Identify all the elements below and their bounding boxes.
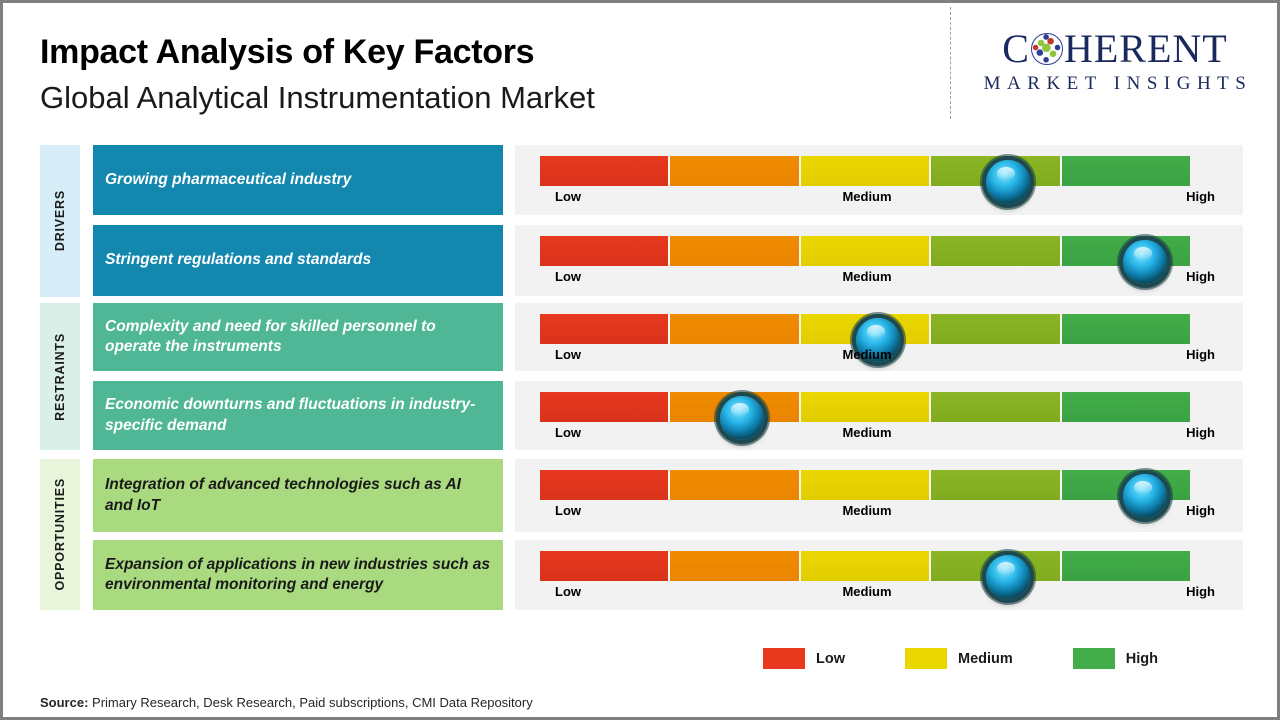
gauge-segment-medium <box>799 551 929 581</box>
gauge-segment-medium <box>799 392 929 422</box>
gauge-segment-medium <box>799 236 929 266</box>
gauge-bar[interactable] <box>540 314 1190 344</box>
globe-icon <box>1031 33 1063 65</box>
factor-text: Complexity and need for skilled personne… <box>105 317 491 358</box>
gauge-segment-low <box>540 314 668 344</box>
gauge-row-3: Low Medium High <box>515 303 1243 371</box>
gauge-segment-low-mid <box>668 470 798 500</box>
gauge-segment-mid-high <box>929 236 1059 266</box>
factor-text: Stringent regulations and standards <box>105 250 371 270</box>
gauge-segment-mid-high <box>929 392 1059 422</box>
gauge-bar[interactable] <box>540 551 1190 581</box>
gauge-row-4: Low Medium High <box>515 381 1243 450</box>
gauge-segment-low <box>540 470 668 500</box>
gauge-scale-labels: Low Medium High <box>540 189 1220 211</box>
gauge-segment-mid-high <box>929 314 1059 344</box>
logo-letter-c: C <box>1002 29 1030 69</box>
scale-label-low: Low <box>555 189 581 204</box>
gauge-segment-low-mid <box>668 156 798 186</box>
scale-label-medium: Medium <box>842 269 891 284</box>
gauge-segment-high <box>1060 551 1190 581</box>
scale-label-low: Low <box>555 503 581 518</box>
factor-box-6[interactable]: Expansion of applications in new industr… <box>93 540 503 610</box>
factor-text: Integration of advanced technologies suc… <box>105 475 491 516</box>
legend-swatch-low <box>763 648 805 669</box>
gauge-segment-high <box>1060 156 1190 186</box>
legend-swatch-high <box>1073 648 1115 669</box>
scale-label-low: Low <box>555 347 581 362</box>
factor-box-2[interactable]: Stringent regulations and standards <box>93 225 503 296</box>
scale-label-medium: Medium <box>842 425 891 440</box>
legend-item-low: Low <box>763 648 845 669</box>
source-note: Source: Primary Research, Desk Research,… <box>40 695 533 710</box>
category-label-drivers: DRIVERS <box>40 145 80 297</box>
logo-wordmark: C HERENT <box>965 29 1265 69</box>
gauge-segment-high <box>1060 392 1190 422</box>
scale-label-high: High <box>1186 584 1215 599</box>
gauge-row-6: Low Medium High <box>515 540 1243 610</box>
scale-label-high: High <box>1186 189 1215 204</box>
page-subtitle: Global Analytical Instrumentation Market <box>40 79 595 116</box>
logo-tagline: MARKET INSIGHTS <box>965 73 1265 95</box>
legend-label: High <box>1126 651 1158 667</box>
gauge-row-2: Low Medium High <box>515 225 1243 296</box>
gauge-segment-medium <box>799 470 929 500</box>
factor-text: Expansion of applications in new industr… <box>105 555 491 596</box>
logo-letters-herent: HERENT <box>1064 29 1228 69</box>
gauge-row-1: Low Medium High <box>515 145 1243 215</box>
factor-box-5[interactable]: Integration of advanced technologies suc… <box>93 459 503 532</box>
factor-text: Economic downturns and fluctuations in i… <box>105 395 491 436</box>
gauge-segment-low <box>540 156 668 186</box>
scale-label-low: Low <box>555 269 581 284</box>
gauge-segment-mid-high <box>929 470 1059 500</box>
title-block: Impact Analysis of Key Factors Global An… <box>40 33 595 116</box>
category-label-opportunities: OPPORTUNITIES <box>40 459 80 610</box>
scale-label-high: High <box>1186 269 1215 284</box>
scale-label-low: Low <box>555 584 581 599</box>
factor-box-4[interactable]: Economic downturns and fluctuations in i… <box>93 381 503 450</box>
category-label-restraints: RESTRAINTS <box>40 303 80 450</box>
gauge-scale-labels: Low Medium High <box>540 503 1220 525</box>
gauge-bar[interactable] <box>540 236 1190 266</box>
scale-label-medium: Medium <box>842 503 891 518</box>
factor-text: Growing pharmaceutical industry <box>105 170 351 190</box>
gauge-bar[interactable] <box>540 156 1190 186</box>
gauge-row-5: Low Medium High <box>515 459 1243 532</box>
legend-item-medium: Medium <box>905 648 1013 669</box>
gauge-bar[interactable] <box>540 470 1190 500</box>
scale-label-medium: Medium <box>842 189 891 204</box>
legend-label: Medium <box>958 651 1013 667</box>
legend-item-high: High <box>1073 648 1158 669</box>
gauge-scale-labels: Low Medium High <box>540 347 1220 369</box>
category-label-text: RESTRAINTS <box>53 333 67 421</box>
scale-label-medium: Medium <box>842 584 891 599</box>
legend: Low Medium High <box>763 648 1158 669</box>
gauge-segment-high <box>1060 314 1190 344</box>
factor-box-1[interactable]: Growing pharmaceutical industry <box>93 145 503 215</box>
page-title: Impact Analysis of Key Factors <box>40 33 595 72</box>
slide-canvas: Impact Analysis of Key Factors Global An… <box>0 0 1280 720</box>
gauge-segment-low <box>540 236 668 266</box>
source-text: Primary Research, Desk Research, Paid su… <box>88 695 532 710</box>
source-prefix: Source: <box>40 695 88 710</box>
scale-label-high: High <box>1186 503 1215 518</box>
factor-box-3[interactable]: Complexity and need for skilled personne… <box>93 303 503 371</box>
gauge-scale-labels: Low Medium High <box>540 584 1220 606</box>
scale-label-high: High <box>1186 347 1215 362</box>
gauge-bar[interactable] <box>540 392 1190 422</box>
gauge-segment-low-mid <box>668 236 798 266</box>
gauge-segment-low <box>540 551 668 581</box>
gauge-scale-labels: Low Medium High <box>540 269 1220 291</box>
scale-label-high: High <box>1186 425 1215 440</box>
logo-divider <box>950 7 951 119</box>
company-logo: C HERENT MARKET INSIGHTS <box>965 29 1265 95</box>
scale-label-medium: Medium <box>842 347 891 362</box>
gauge-scale-labels: Low Medium High <box>540 425 1220 447</box>
legend-swatch-medium <box>905 648 947 669</box>
gauge-segment-low-mid <box>668 314 798 344</box>
gauge-segment-medium <box>799 156 929 186</box>
category-label-text: DRIVERS <box>53 190 67 251</box>
scale-label-low: Low <box>555 425 581 440</box>
gauge-segment-low-mid <box>668 551 798 581</box>
legend-label: Low <box>816 651 845 667</box>
gauge-segment-low <box>540 392 668 422</box>
category-label-text: OPPORTUNITIES <box>53 478 67 591</box>
header: Impact Analysis of Key Factors Global An… <box>3 3 1277 131</box>
